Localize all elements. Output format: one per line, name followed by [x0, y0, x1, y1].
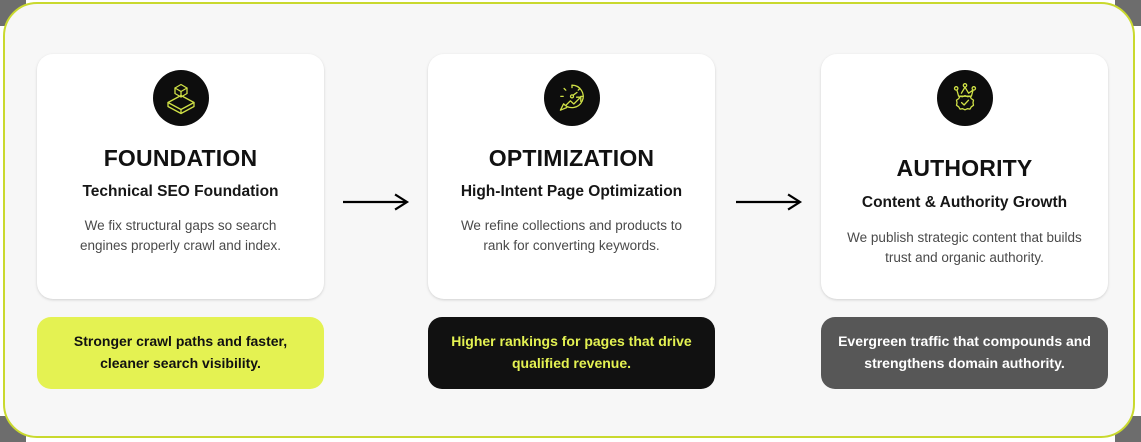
stage-title: OPTIMIZATION: [489, 146, 655, 170]
cube-stack-icon: [153, 70, 209, 126]
stage-subtitle: High-Intent Page Optimization: [461, 183, 682, 201]
stage-columns: FOUNDATION Technical SEO Foundation We f…: [5, 4, 1135, 438]
stage-title: AUTHORITY: [897, 156, 1033, 180]
arrow-right-icon: [343, 192, 411, 212]
stage-column-optimization: OPTIMIZATION High-Intent Page Optimizati…: [428, 54, 715, 389]
stage-column-foundation: FOUNDATION Technical SEO Foundation We f…: [37, 54, 324, 389]
diagram-frame: FOUNDATION Technical SEO Foundation We f…: [0, 0, 1141, 442]
stage-card-authority[interactable]: AUTHORITY Content & Authority Growth We …: [821, 54, 1108, 299]
stage-card-foundation[interactable]: FOUNDATION Technical SEO Foundation We f…: [37, 54, 324, 299]
stage-outcome-banner: Higher rankings for pages that drive qua…: [428, 317, 715, 389]
stage-column-authority: AUTHORITY Content & Authority Growth We …: [821, 54, 1108, 389]
stage-subtitle: Content & Authority Growth: [862, 194, 1067, 212]
stage-description: We refine collections and products to ra…: [456, 216, 688, 257]
stage-title: FOUNDATION: [104, 146, 258, 170]
arrow-right-icon: [736, 192, 804, 212]
stage-description: We publish strategic content that builds…: [839, 228, 1091, 269]
process-diagram-panel: FOUNDATION Technical SEO Foundation We f…: [3, 2, 1135, 438]
stage-outcome-banner: Stronger crawl paths and faster, cleaner…: [37, 317, 324, 389]
speed-gauge-growth-icon: [544, 70, 600, 126]
stage-outcome-banner: Evergreen traffic that compounds and str…: [821, 317, 1108, 389]
stage-subtitle: Technical SEO Foundation: [82, 183, 278, 201]
stage-card-optimization[interactable]: OPTIMIZATION High-Intent Page Optimizati…: [428, 54, 715, 299]
stage-description: We fix structural gaps so search engines…: [65, 216, 297, 257]
crown-badge-check-icon: [937, 70, 993, 126]
